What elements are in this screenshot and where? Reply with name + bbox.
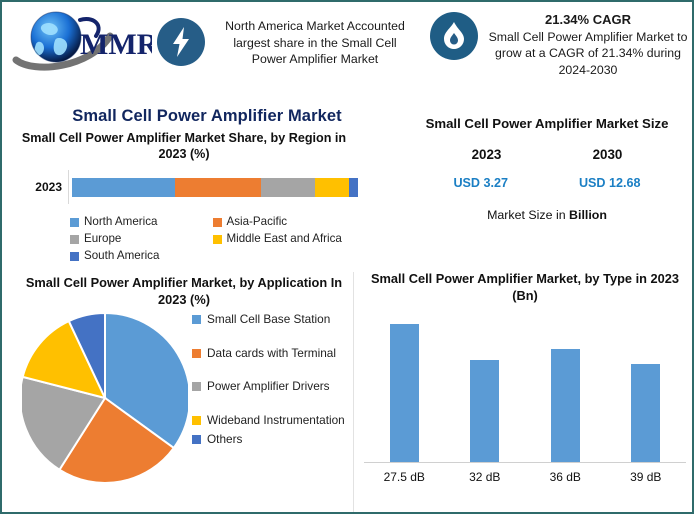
brand-logo: MMR xyxy=(12,8,152,74)
stacked-bar-category-label: 2023 xyxy=(10,180,68,194)
globe-icon: MMR xyxy=(12,8,152,74)
legend-item-others: Others xyxy=(192,432,358,448)
page-title: Small Cell Power Amplifier Market xyxy=(2,107,412,126)
legend-swatch-icon xyxy=(192,416,201,425)
bar-axis-label: 36 dB xyxy=(525,470,606,484)
region-legend: North America Asia-Pacific Europe Middle… xyxy=(70,214,355,265)
header: MMR North America Market Accounted large… xyxy=(2,2,692,94)
bar-chart-plot xyxy=(364,310,686,463)
market-size-value-2030: USD 12.68 xyxy=(579,176,641,190)
bar-column xyxy=(525,310,606,462)
header-badge-cagr: 21.34% CAGR Small Cell Power Amplifier M… xyxy=(430,12,692,78)
legend-item-asia-pacific: Asia-Pacific xyxy=(213,214,356,230)
stacked-bar-segment-europe xyxy=(261,178,315,197)
cagr-value: 21.34% CAGR xyxy=(488,12,688,29)
flame-icon xyxy=(430,12,478,60)
bar-rect xyxy=(390,324,419,462)
bar-column xyxy=(445,310,526,462)
stacked-bar-row: 2023 xyxy=(10,170,358,204)
legend-swatch-icon xyxy=(192,349,201,358)
legend-item-power-amplifier-drivers: Power Amplifier Drivers xyxy=(192,379,358,395)
stacked-bar-track xyxy=(72,178,358,197)
legend-label: North America xyxy=(84,214,157,230)
pie-chart-icon xyxy=(22,312,188,484)
stacked-bar-segment-north-america xyxy=(72,178,175,197)
pie-area: Small Cell Base Station Data cards with … xyxy=(10,312,358,510)
legend-swatch-icon xyxy=(213,218,222,227)
legend-swatch-icon xyxy=(70,252,79,261)
legend-label: Asia-Pacific xyxy=(227,214,288,230)
lightning-bolt-icon xyxy=(157,18,205,66)
svg-text:MMR: MMR xyxy=(80,28,152,61)
legend-swatch-icon xyxy=(192,382,201,391)
market-size-panel: Small Cell Power Amplifier Market Size 2… xyxy=(402,114,692,264)
bar-chart-axis-labels: 27.5 dB 32 dB 36 dB 39 dB xyxy=(364,470,686,484)
legend-item-europe: Europe xyxy=(70,231,213,247)
chart-title-application: Small Cell Power Amplifier Market, by Ap… xyxy=(10,274,358,308)
market-size-value-2023: USD 3.27 xyxy=(453,176,508,190)
bar-rect xyxy=(631,364,660,462)
legend-item-data-cards-with-terminal: Data cards with Terminal xyxy=(192,346,358,362)
market-size-footnote-prefix: Market Size in xyxy=(487,208,569,222)
legend-swatch-icon xyxy=(70,218,79,227)
bar-axis-label: 39 dB xyxy=(606,470,687,484)
legend-label: Wideband Instrumentation xyxy=(207,413,345,429)
stacked-bar-axis xyxy=(68,170,69,204)
stacked-bar-segment-middle-east-africa xyxy=(315,178,349,197)
bar-column xyxy=(364,310,445,462)
legend-label: South America xyxy=(84,248,159,264)
legend-item-wideband-instrumentation: Wideband Instrumentation xyxy=(192,413,358,429)
legend-label: Data cards with Terminal xyxy=(207,346,336,362)
cagr-description: Small Cell Power Amplifier Market to gro… xyxy=(489,30,688,77)
legend-label: Small Cell Base Station xyxy=(207,312,330,328)
legend-label: Middle East and Africa xyxy=(227,231,342,247)
infographic-root: MMR North America Market Accounted large… xyxy=(0,0,694,514)
legend-item-north-america: North America xyxy=(70,214,213,230)
legend-swatch-icon xyxy=(70,235,79,244)
bar-column xyxy=(606,310,687,462)
chart-market-share-by-region: Small Cell Power Amplifier Market Share,… xyxy=(10,130,358,270)
legend-label: Power Amplifier Drivers xyxy=(207,379,330,395)
legend-swatch-icon xyxy=(192,315,201,324)
header-badge-right-text: 21.34% CAGR Small Cell Power Amplifier M… xyxy=(488,12,688,78)
stacked-bar-segment-south-america xyxy=(349,178,358,197)
chart-market-by-type: Small Cell Power Amplifier Market, by Ty… xyxy=(358,270,692,512)
stacked-bar-segment-asia-pacific xyxy=(175,178,261,197)
market-size-values: USD 3.27 USD 12.68 xyxy=(402,176,692,190)
market-size-title: Small Cell Power Amplifier Market Size xyxy=(402,114,692,133)
market-size-year-2023: 2023 xyxy=(472,147,502,162)
market-size-footnote: Market Size in Billion xyxy=(402,208,692,222)
chart-title-type: Small Cell Power Amplifier Market, by Ty… xyxy=(358,270,692,304)
market-size-years: 2023 2030 xyxy=(402,147,692,162)
chart-title-region-share: Small Cell Power Amplifier Market Share,… xyxy=(10,130,358,162)
bar-rect xyxy=(551,349,580,462)
legend-swatch-icon xyxy=(192,435,201,444)
legend-item-small-cell-base-station: Small Cell Base Station xyxy=(192,312,358,328)
legend-label: Others xyxy=(207,432,242,448)
legend-label: Europe xyxy=(84,231,121,247)
header-badge-north-america: North America Market Accounted largest s… xyxy=(157,18,417,68)
bar-axis-label: 27.5 dB xyxy=(364,470,445,484)
legend-item-middle-east-africa: Middle East and Africa xyxy=(213,231,356,247)
legend-item-south-america: South America xyxy=(70,248,213,264)
chart-market-by-application: Small Cell Power Amplifier Market, by Ap… xyxy=(10,274,358,512)
market-size-footnote-unit: Billion xyxy=(569,208,607,222)
bar-axis-label: 32 dB xyxy=(445,470,526,484)
bar-rect xyxy=(470,360,499,462)
application-legend: Small Cell Base Station Data cards with … xyxy=(192,312,358,466)
legend-swatch-icon xyxy=(213,235,222,244)
market-size-year-2030: 2030 xyxy=(593,147,623,162)
header-badge-left-text: North America Market Accounted largest s… xyxy=(215,18,415,68)
